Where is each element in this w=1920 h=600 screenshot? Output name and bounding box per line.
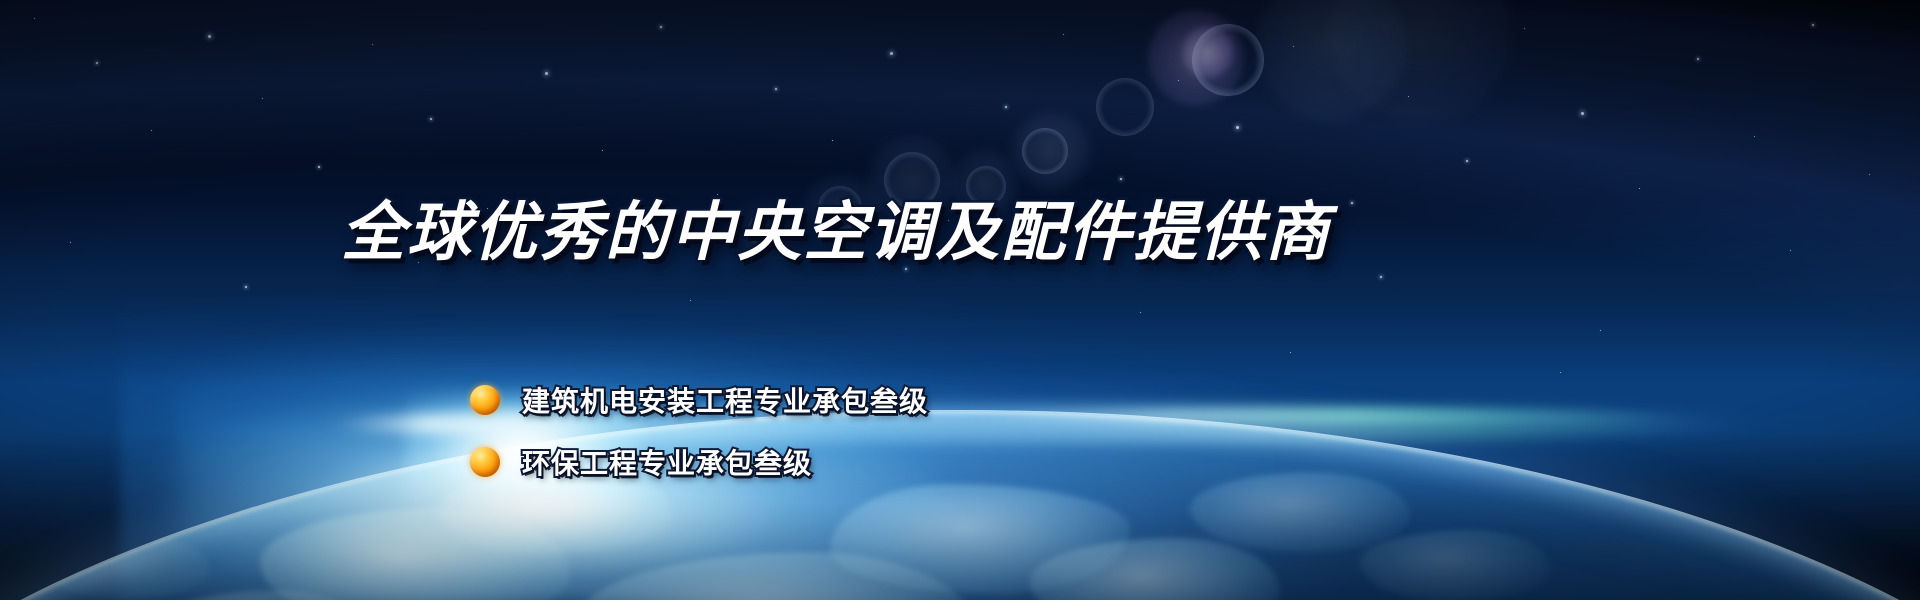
list-item-label: 建筑机电安装工程专业承包叁级: [522, 380, 928, 420]
banner-content: 全球优秀的中央空调及配件提供商 建筑机电安装工程专业承包叁级 环保工程专业承包叁…: [0, 0, 1920, 600]
list-item: 建筑机电安装工程专业承包叁级: [470, 372, 1370, 428]
orange-sphere-bullet-icon: [470, 385, 500, 415]
list-item: 环保工程专业承包叁级: [470, 434, 1370, 490]
hero-banner: 全球优秀的中央空调及配件提供商 建筑机电安装工程专业承包叁级 环保工程专业承包叁…: [0, 0, 1920, 600]
list-item-label: 环保工程专业承包叁级: [522, 442, 812, 482]
orange-sphere-bullet-icon: [470, 447, 500, 477]
feature-list: 建筑机电安装工程专业承包叁级 环保工程专业承包叁级: [470, 372, 1370, 496]
page-title: 全球优秀的中央空调及配件提供商: [0, 200, 1672, 264]
